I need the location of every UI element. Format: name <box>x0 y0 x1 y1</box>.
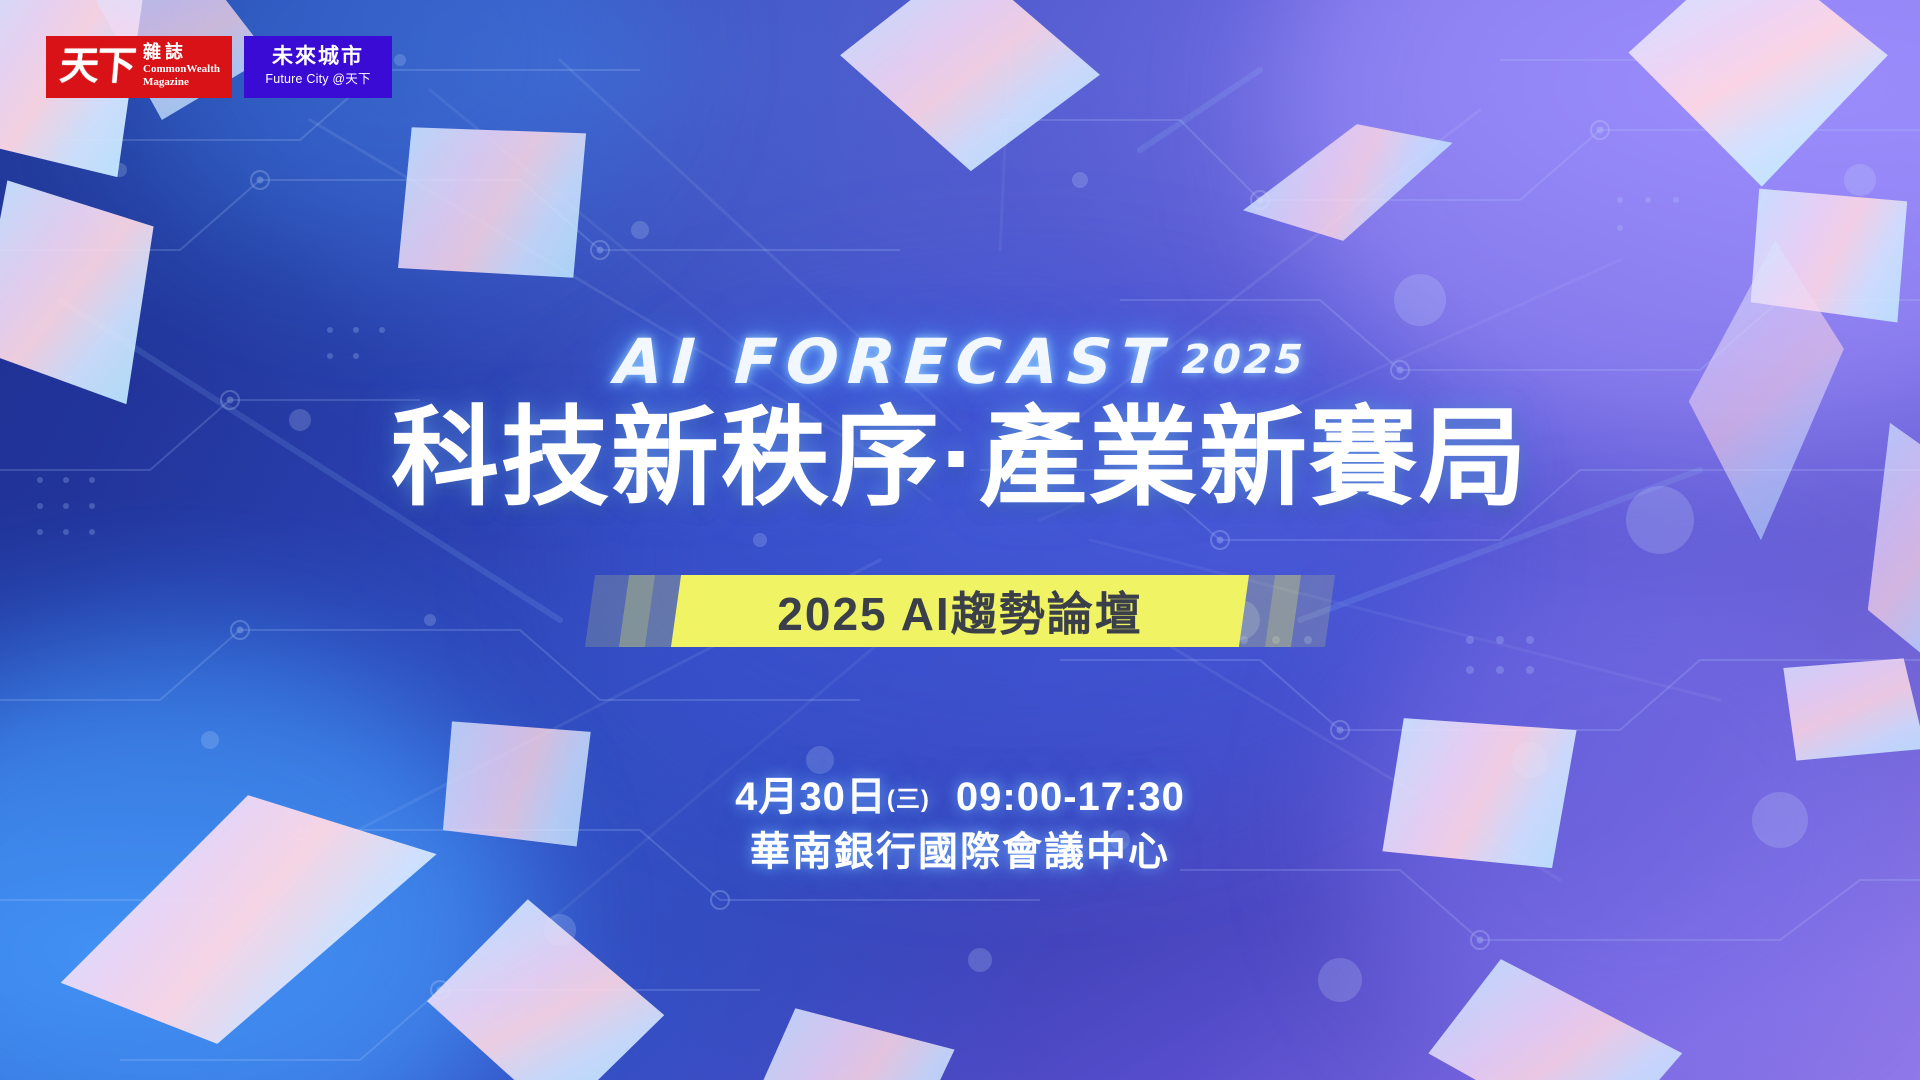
commonwealth-magazine-logo[interactable]: 天下 雜誌 CommonWealth Magazine <box>46 36 232 98</box>
event-details: 4月30日(三)09:00-17:30 華南銀行國際會議中心 <box>0 770 1920 879</box>
event-time: 09:00-17:30 <box>956 775 1185 819</box>
event-weekday: (三) <box>887 786 930 813</box>
event-venue: 華南銀行國際會議中心 <box>0 826 1920 879</box>
future-city-logo[interactable]: 未來城市 Future City @天下 <box>244 36 392 98</box>
future-city-label-zh: 未來城市 <box>272 45 364 70</box>
commonwealth-label-en-line2: Magazine <box>143 76 220 89</box>
event-key-visual: 天下 雜誌 CommonWealth Magazine 未來城市 Future … <box>0 0 1920 1080</box>
commonwealth-wordmark-zh: 天下 <box>58 48 135 85</box>
page-title: 科技新秩序·產業新賽局 <box>0 398 1920 519</box>
event-date: 4月30日 <box>735 775 887 819</box>
future-city-label-en: Future City @天下 <box>265 71 370 87</box>
subtitle-text: 2025 AI趨勢論壇 <box>0 575 1920 647</box>
brand-logo-lockup: 天下 雜誌 CommonWealth Magazine 未來城市 Future … <box>46 36 392 98</box>
eyebrow-title-main: AI FORECAST <box>613 325 1174 398</box>
commonwealth-label-en-line1: CommonWealth <box>143 63 220 76</box>
eyebrow-title: AI FORECAST2025 <box>0 325 1920 398</box>
event-date-row: 4月30日(三)09:00-17:30 <box>0 770 1920 824</box>
commonwealth-label-zh: 雜誌 <box>143 43 220 63</box>
eyebrow-title-year: 2025 <box>1181 337 1307 383</box>
